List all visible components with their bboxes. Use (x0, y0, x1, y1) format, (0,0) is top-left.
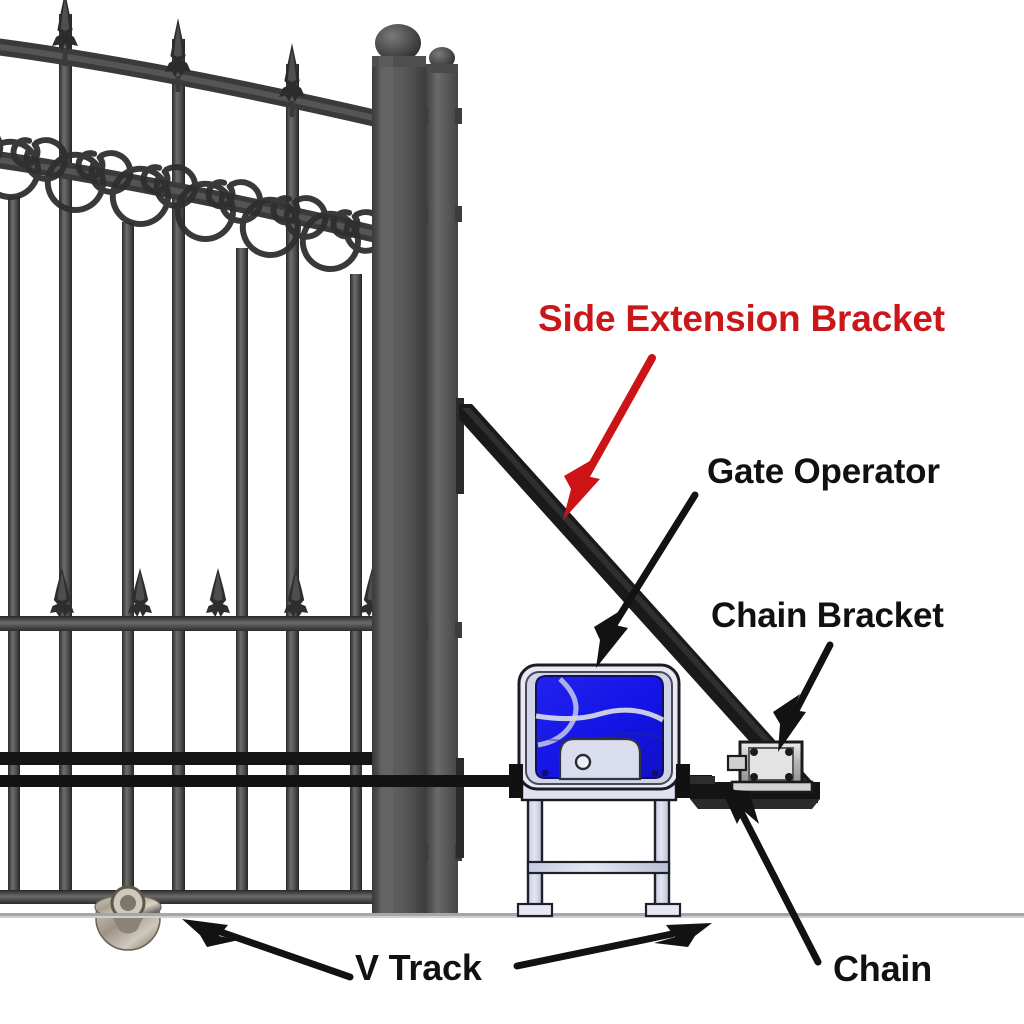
diagram-background (0, 0, 1024, 1024)
gate-installation-illustration (0, 0, 1024, 1024)
lower-mount-plate (456, 758, 464, 858)
chain-bracket (728, 742, 812, 792)
label-chain-bracket: Chain Bracket (711, 598, 944, 633)
ground-line (0, 913, 1024, 918)
label-v-track: V Track (355, 950, 482, 986)
label-gate-operator: Gate Operator (707, 454, 940, 489)
label-chain: Chain (833, 951, 932, 987)
label-side-extension-bracket: Side Extension Bracket (538, 300, 945, 337)
diagram-canvas: Side Extension Bracket Gate Operator Cha… (0, 0, 1024, 1024)
